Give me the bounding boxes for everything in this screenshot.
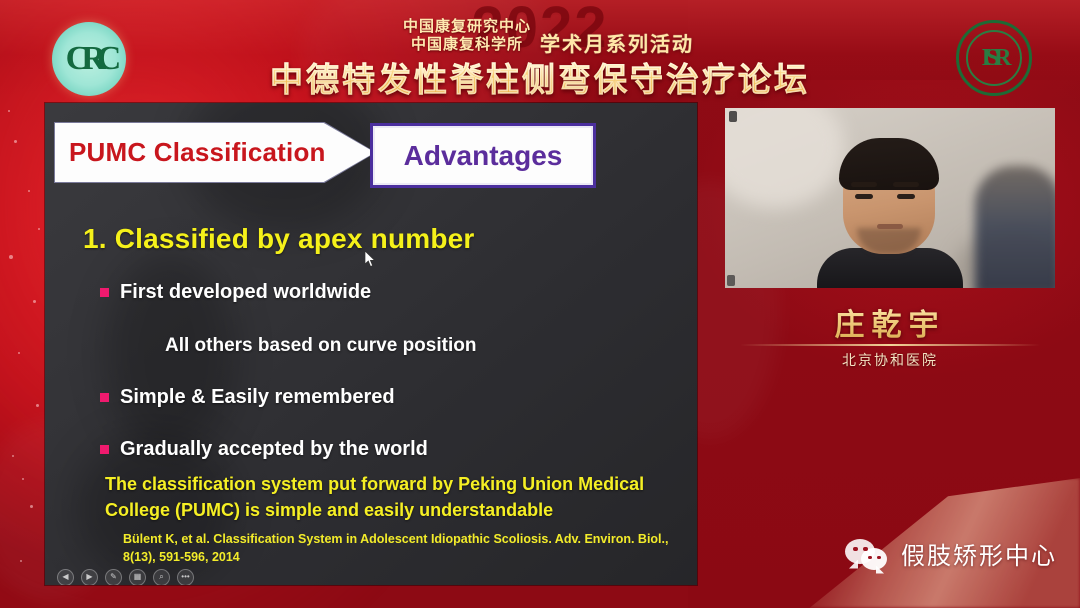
bullet-item-1: First developed worldwide [100, 281, 371, 304]
speaker-torso [817, 248, 963, 288]
advantages-box: Advantages [370, 123, 596, 188]
speaker-eye-left [855, 194, 873, 199]
presenter-toolbar[interactable]: ◀ ▶ ✎ ▦ ⌕ ••• [50, 569, 225, 585]
next-slide-glyph: ▶ [86, 573, 92, 581]
speaker-divider [740, 344, 1040, 346]
pen-glyph: ✎ [110, 573, 117, 581]
advantages-label: Advantages [404, 140, 563, 172]
sparkle [38, 228, 40, 230]
summary-text: The classification system put forward by… [105, 471, 685, 523]
arrow-label: PUMC Classification [55, 137, 326, 168]
wechat-dot [863, 547, 868, 552]
presentation-slide[interactable]: PUMC Classification Advantages 1. Classi… [45, 103, 697, 585]
wechat-icon [845, 539, 891, 569]
sparkle [36, 404, 39, 407]
sparkle [12, 455, 14, 457]
speaker-brow-left [851, 182, 877, 187]
speaker-name: 庄乾宇 [725, 300, 1055, 344]
all-slides-icon[interactable]: ▦ [129, 569, 146, 586]
citation-text: Bülent K, et al. Classification System i… [123, 531, 683, 566]
event-title: 中德特发性脊柱侧弯保守治疗论坛 [0, 53, 1080, 101]
all-slides-glyph: ▦ [134, 573, 142, 581]
sparkle [9, 255, 13, 259]
sparkle [22, 478, 24, 480]
bullet-square-icon [100, 445, 109, 454]
more-options-icon[interactable]: ••• [177, 569, 194, 586]
bullet-item-2: Simple & Easily remembered [100, 386, 395, 409]
sparkle [18, 352, 20, 354]
stage: 2022 CRC ISR 中国康复研究中心 中国康复科学所 学术月系列活动 中德… [0, 0, 1080, 608]
next-slide-icon[interactable]: ▶ [81, 569, 98, 586]
mouse-cursor-icon [365, 251, 377, 269]
speaker-video-feed[interactable] [725, 108, 1055, 288]
slide-heading: 1. Classified by apex number [83, 223, 475, 255]
pen-icon[interactable]: ✎ [105, 569, 122, 586]
bullet-item-3: Gradually accepted by the world [100, 438, 428, 461]
sparkle [28, 190, 30, 192]
organizer-line-1: 中国康复研究中心 [392, 18, 542, 36]
bullet-text: Simple & Easily remembered [120, 386, 395, 409]
sparkle [30, 505, 33, 508]
pumc-classification-arrow: PUMC Classification [55, 123, 375, 182]
sparkle [8, 110, 10, 112]
sub-line-text: All others based on curve position [165, 335, 476, 357]
speaker-organization: 北京协和医院 [725, 350, 1055, 370]
organizer-names: 中国康复研究中心 中国康复科学所 [392, 18, 542, 55]
more-options-glyph: ••• [181, 573, 189, 581]
sparkle [14, 140, 17, 143]
video-top-label [729, 111, 737, 122]
sparkle [33, 300, 36, 303]
bullet-square-icon [100, 288, 109, 297]
bullet-square-icon [100, 393, 109, 402]
speaker-mouth [877, 224, 903, 229]
previous-slide-glyph: ◀ [62, 573, 68, 581]
organizer-line-2: 中国康复科学所 [392, 36, 542, 54]
wechat-watermark: 假肢矫形中心 [845, 536, 1057, 571]
wechat-dot [868, 556, 872, 560]
zoom-icon[interactable]: ⌕ [153, 569, 170, 586]
sparkle [20, 560, 22, 562]
wechat-watermark-text: 假肢矫形中心 [901, 536, 1057, 571]
bullet-text: First developed worldwide [120, 281, 371, 304]
speaker-brow-right [893, 182, 919, 187]
previous-slide-icon[interactable]: ◀ [57, 569, 74, 586]
wechat-dot [877, 556, 881, 560]
bullet-text: Gradually accepted by the world [120, 438, 428, 461]
wechat-dot [853, 547, 858, 552]
video-bottom-label [727, 275, 735, 286]
speaker-eye-right [897, 194, 915, 199]
header-banner: 2022 CRC ISR 中国康复研究中心 中国康复科学所 学术月系列活动 中德… [0, 0, 1080, 100]
background-person [975, 166, 1055, 288]
zoom-glyph: ⌕ [159, 573, 163, 581]
